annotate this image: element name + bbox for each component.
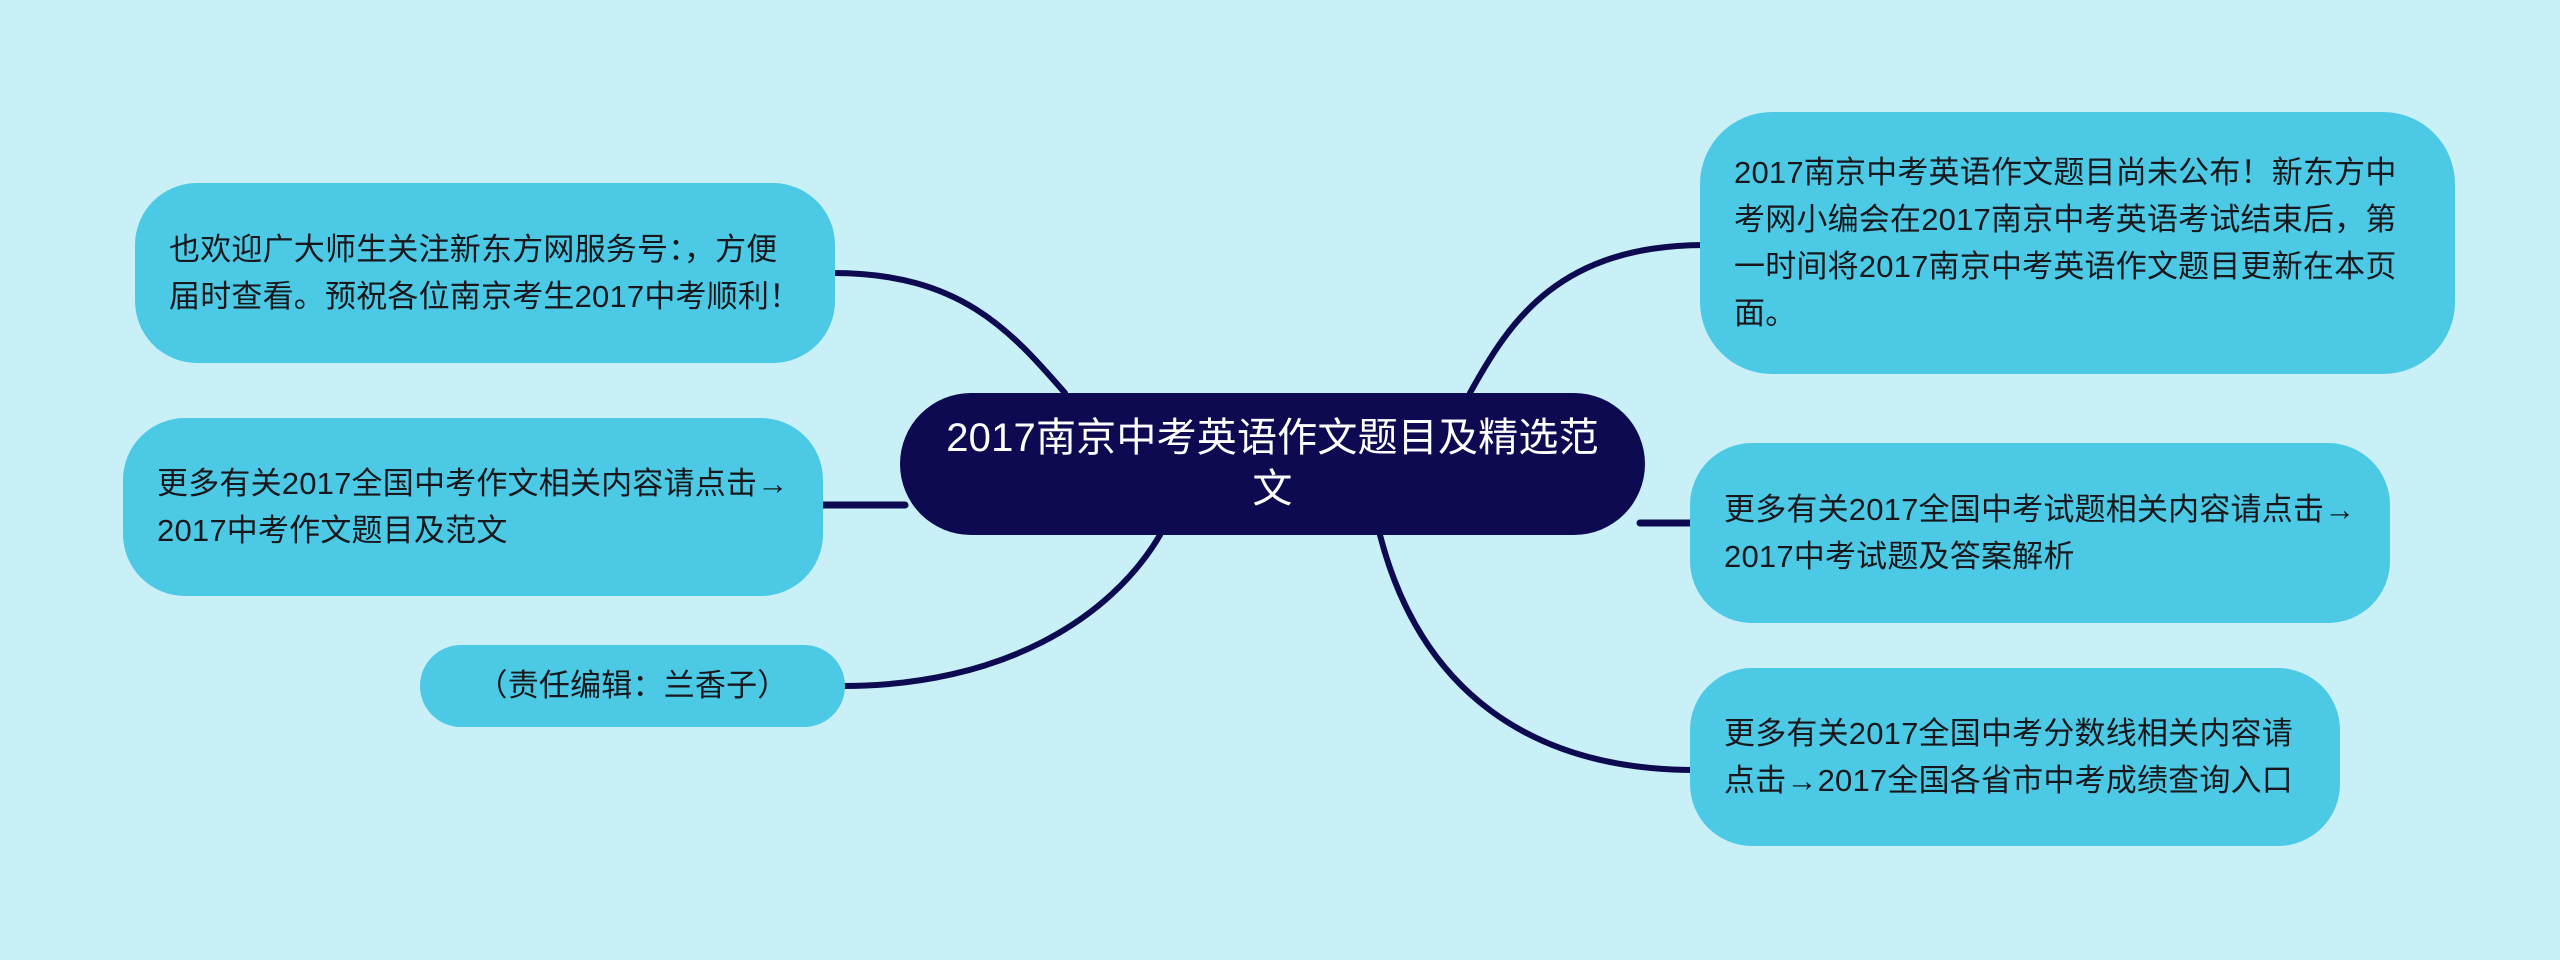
branch-node-right-bottom[interactable]: 更多有关2017全国中考分数线相关内容请点击→2017全国各省市中考成绩查询入口 <box>1690 668 2340 846</box>
central-node[interactable]: 2017南京中考英语作文题目及精选范文 <box>900 393 1645 535</box>
connector-left-bottom <box>843 535 1160 686</box>
branch-node-left-bottom-label: （责任编辑：兰香子） <box>454 662 811 709</box>
branch-node-right-bottom-label: 更多有关2017全国中考分数线相关内容请点击→2017全国各省市中考成绩查询入口 <box>1724 710 2306 804</box>
branch-node-left-mid[interactable]: 更多有关2017全国中考作文相关内容请点击→2017中考作文题目及范文 <box>123 418 823 596</box>
connector-right-top <box>1470 245 1705 393</box>
branch-node-left-mid-label: 更多有关2017全国中考作文相关内容请点击→2017中考作文题目及范文 <box>157 460 789 554</box>
branch-node-left-top[interactable]: 也欢迎广大师生关注新东方网服务号：，方便届时查看。预祝各位南京考生2017中考顺… <box>135 183 835 363</box>
branch-node-right-top-label: 2017南京中考英语作文题目尚未公布！新东方中考网小编会在2017南京中考英语考… <box>1734 149 2421 337</box>
branch-node-left-bottom[interactable]: （责任编辑：兰香子） <box>420 645 845 727</box>
branch-node-right-mid-label: 更多有关2017全国中考试题相关内容请点击→2017中考试题及答案解析 <box>1724 486 2356 580</box>
mind-map-canvas: 也欢迎广大师生关注新东方网服务号：，方便届时查看。预祝各位南京考生2017中考顺… <box>0 0 2560 960</box>
connector-right-bottom <box>1380 535 1695 770</box>
connector-left-top <box>833 273 1065 393</box>
branch-node-right-mid[interactable]: 更多有关2017全国中考试题相关内容请点击→2017中考试题及答案解析 <box>1690 443 2390 623</box>
branch-node-left-top-label: 也欢迎广大师生关注新东方网服务号：，方便届时查看。预祝各位南京考生2017中考顺… <box>169 226 801 320</box>
central-node-label: 2017南京中考英语作文题目及精选范文 <box>940 413 1605 515</box>
branch-node-right-top[interactable]: 2017南京中考英语作文题目尚未公布！新东方中考网小编会在2017南京中考英语考… <box>1700 112 2455 374</box>
